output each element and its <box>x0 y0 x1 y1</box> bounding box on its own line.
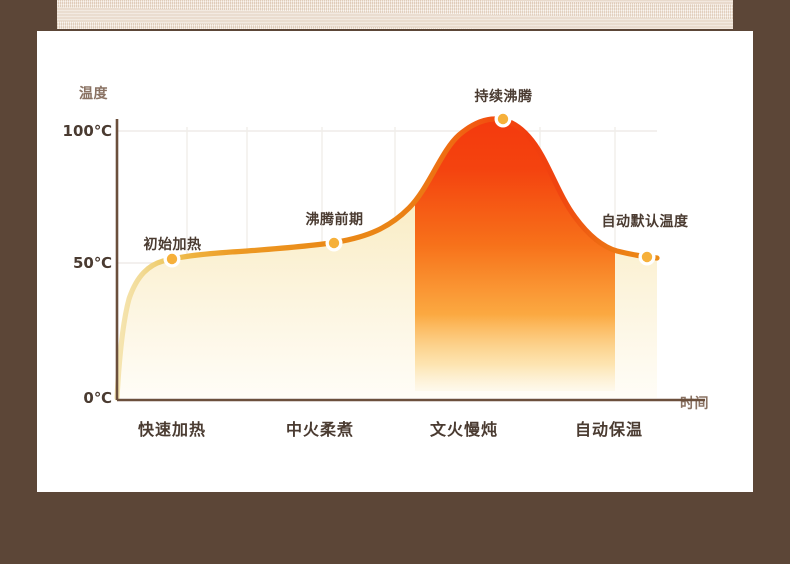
annotation-initial-heating: 初始加热 <box>115 234 230 254</box>
annotation-pre-boiling: 沸腾前期 <box>277 209 392 229</box>
page-background: 温度 时间 100℃ 50℃ 0℃ <box>0 0 790 564</box>
x-category-medium-simmer: 中火柔煮 <box>245 416 395 440</box>
linen-texture-band <box>57 0 733 31</box>
x-category-fast-heating: 快速加热 <box>97 416 247 440</box>
annotation-auto-default-temp: 自动默认温度 <box>565 211 725 231</box>
chart-card: 温度 时间 100℃ 50℃ 0℃ <box>37 31 753 492</box>
x-category-slow-stew: 文火慢炖 <box>389 416 539 440</box>
temperature-curve-chart: 温度 时间 100℃ 50℃ 0℃ <box>37 31 753 492</box>
x-category-auto-keep-warm: 自动保温 <box>534 416 684 440</box>
annotation-continuous-boiling: 持续沸腾 <box>446 86 561 106</box>
